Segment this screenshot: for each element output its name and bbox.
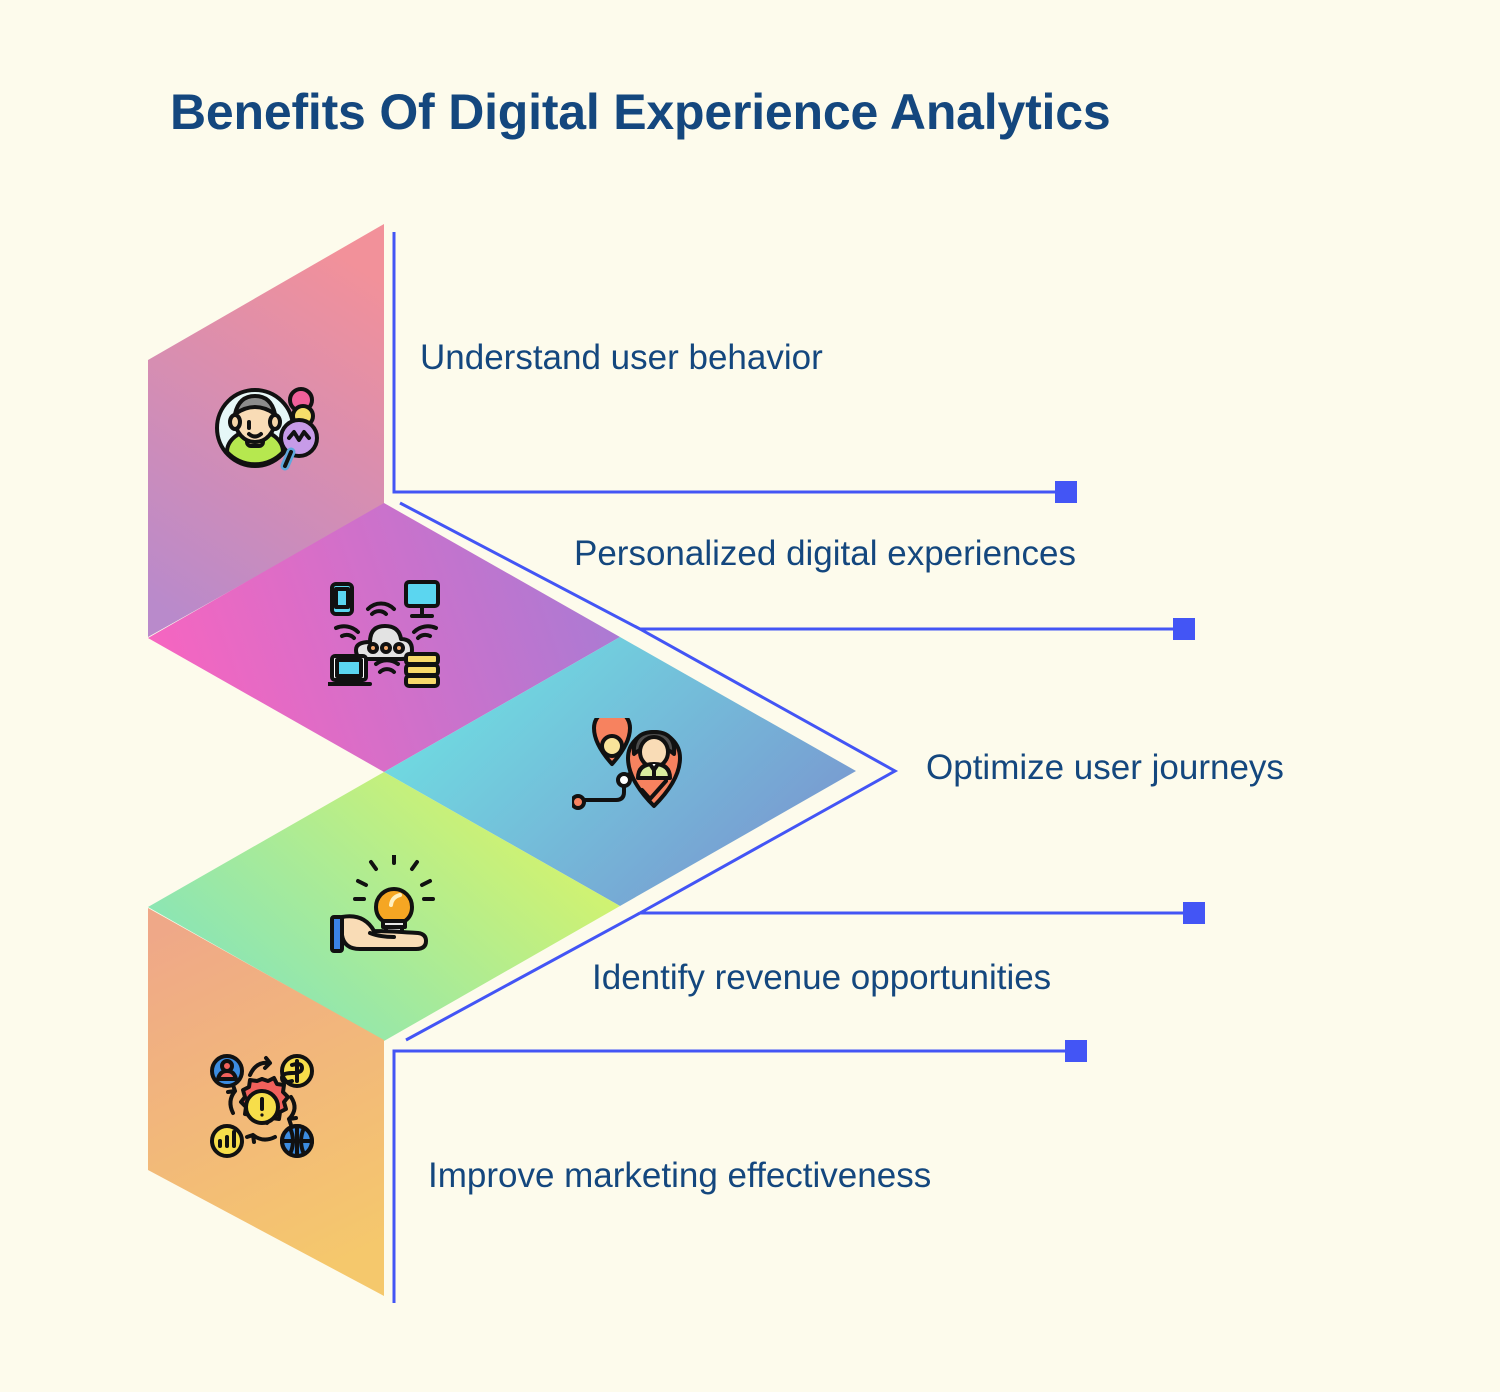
- user-behavior-icon: [205, 370, 325, 480]
- benefit-label-4: Identify revenue opportunities: [592, 958, 1051, 998]
- user-journey-map-icon: [572, 718, 684, 828]
- benefit-label-2: Personalized digital experiences: [574, 534, 1076, 574]
- marker-square-1[interactable]: [1055, 481, 1077, 503]
- idea-in-hand-icon: [330, 855, 440, 955]
- connected-devices-cloud-icon: [328, 580, 444, 690]
- marker-square-2[interactable]: [1173, 618, 1195, 640]
- marker-square-3[interactable]: [1183, 902, 1205, 924]
- benefit-label-5: Improve marketing effectiveness: [428, 1156, 931, 1196]
- benefit-label-3: Optimize user journeys: [926, 748, 1284, 788]
- infographic-canvas: Benefits Of Digital Experience Analytics…: [0, 0, 1500, 1392]
- benefit-label-1: Understand user behavior: [420, 338, 823, 378]
- marker-square-4[interactable]: [1065, 1040, 1087, 1062]
- page-title: Benefits Of Digital Experience Analytics: [170, 86, 1370, 139]
- marketing-process-gear-icon: [205, 1045, 320, 1160]
